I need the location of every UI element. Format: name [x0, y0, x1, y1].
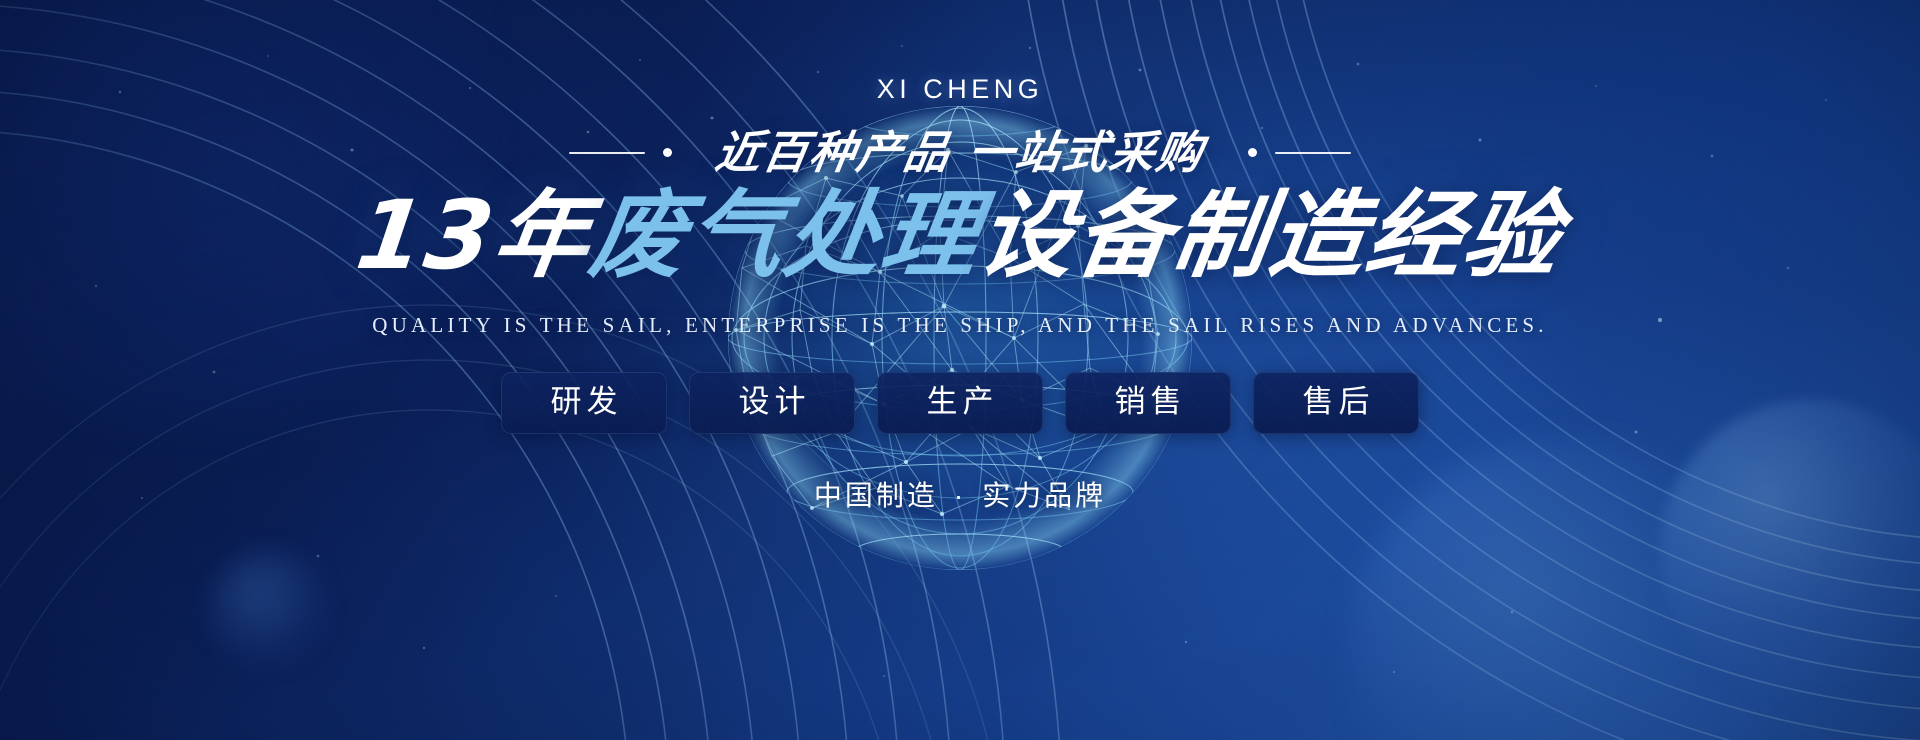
banner-headline: 13年废气处理设备制造经验 [351, 182, 1569, 290]
service-tag[interactable]: 售后 [1253, 372, 1419, 435]
service-tag[interactable]: 生产 [877, 372, 1043, 435]
footer-separator: · [938, 480, 982, 511]
headline-part-3: 设备制造经验 [972, 181, 1569, 291]
service-tag[interactable]: 设计 [689, 372, 855, 435]
service-tag[interactable]: 研发 [501, 372, 667, 435]
banner-subtitle: 近百种产品 一站式采购 [668, 129, 1251, 176]
banner-content: XI CHENG 近百种产品 一站式采购 13年废气处理设备制造经验 QUALI… [0, 0, 1920, 740]
hero-banner: XI CHENG 近百种产品 一站式采购 13年废气处理设备制造经验 QUALI… [0, 0, 1920, 740]
footer-text-right: 实力品牌 [982, 480, 1106, 511]
subtitle-row: 近百种产品 一站式采购 [569, 129, 1351, 176]
banner-tagline-en: QUALITY IS THE SAIL, ENTERPRISE IS THE S… [372, 313, 1548, 338]
service-tag-list: 研发 设计 生产 销售 售后 [501, 372, 1419, 435]
headline-part-1: 13年 [351, 181, 600, 291]
banner-footer-line: 中国制造·实力品牌 [814, 474, 1106, 514]
decoration-line-right-icon [1248, 148, 1351, 157]
decoration-line-left-icon [569, 148, 672, 157]
footer-text-left: 中国制造 [814, 480, 938, 511]
brand-name-en: XI CHENG [877, 76, 1044, 103]
service-tag[interactable]: 销售 [1065, 372, 1231, 435]
headline-highlight: 废气处理 [584, 181, 987, 291]
